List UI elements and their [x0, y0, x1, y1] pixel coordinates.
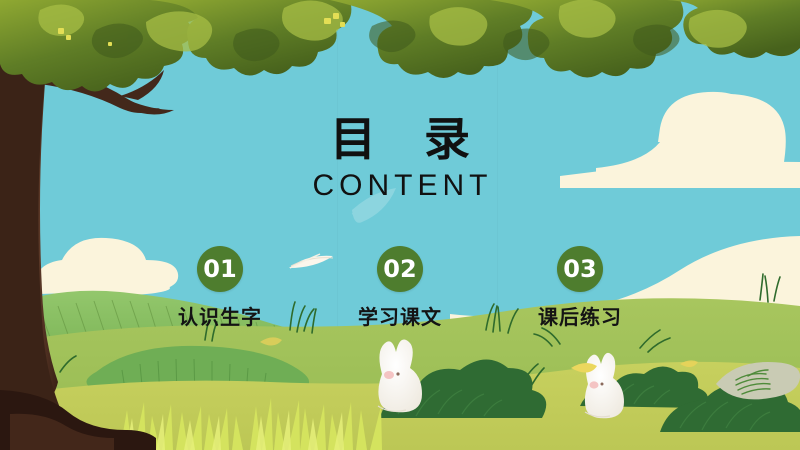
- slide-canvas: 目 录 CONTENT 01 认识生字 02 学习课文 03 课后练习: [0, 0, 800, 450]
- menu-item-2[interactable]: 02 学习课文: [325, 246, 475, 330]
- menu-item-1[interactable]: 01 认识生字: [145, 246, 295, 330]
- menu-item-2-label[interactable]: 学习课文: [325, 301, 475, 330]
- menu-item-2-badge[interactable]: 02: [377, 246, 423, 292]
- menu-item-3[interactable]: 03 课后练习: [505, 246, 655, 330]
- scenery-background: [0, 0, 800, 450]
- menu-item-1-label[interactable]: 认识生字: [145, 301, 295, 330]
- menu-item-3-label[interactable]: 课后练习: [505, 301, 655, 330]
- menu-item-3-badge[interactable]: 03: [557, 246, 603, 292]
- menu-item-1-badge[interactable]: 01: [197, 246, 243, 292]
- contents-menu: 01 认识生字 02 学习课文 03 课后练习: [0, 246, 800, 336]
